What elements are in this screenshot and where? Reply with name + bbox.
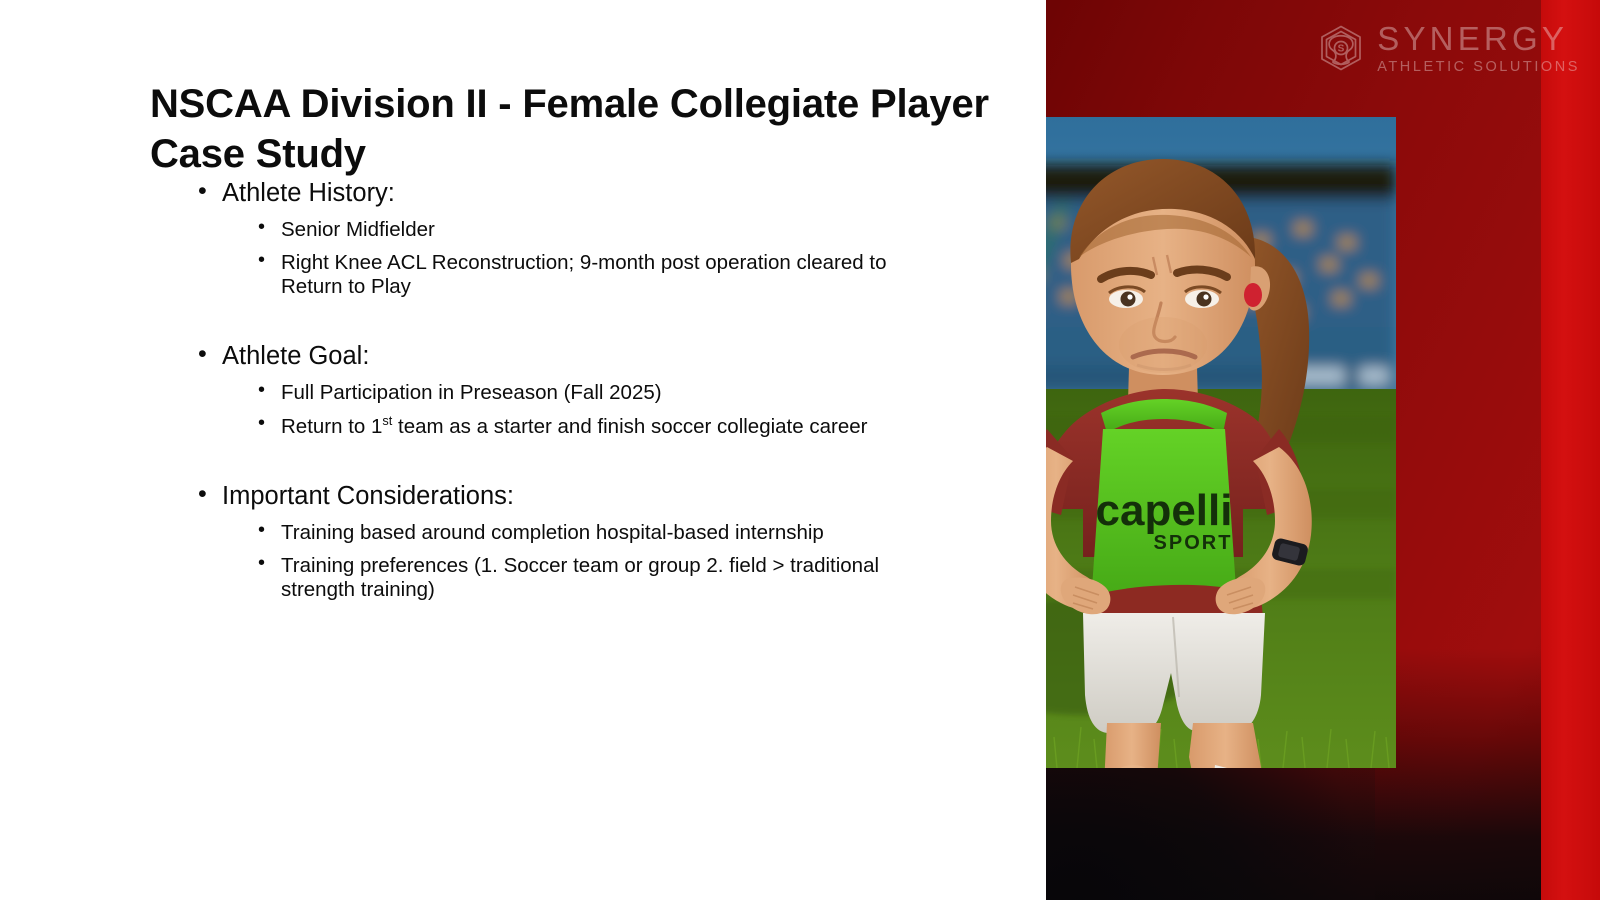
logo-wordmark: SYNERGY ATHLETIC SOLUTIONS	[1377, 22, 1580, 75]
synergy-logo: S SYNERGY ATHLETIC SOLUTIONS	[1316, 22, 1580, 75]
bullet-heading: Important Considerations:	[150, 481, 940, 512]
svg-text:SPORT: SPORT	[1154, 532, 1233, 554]
bullet-group-athlete-history: Athlete History: Senior Midfielder Right…	[150, 178, 940, 299]
hexagon-knot-s-icon: S	[1316, 23, 1366, 73]
bullet-sub-item: Senior Midfielder	[150, 218, 940, 242]
bullet-group-athlete-goal: Athlete Goal: Full Participation in Pres…	[150, 341, 940, 439]
logo-name: SYNERGY	[1377, 22, 1580, 55]
bullet-group-important-considerations: Important Considerations: Training based…	[150, 481, 940, 602]
bullet-sub-item: Right Knee ACL Reconstruction; 9-month p…	[150, 251, 940, 299]
bullet-sub-item-ordinal: Return to 1st team as a starter and fini…	[150, 414, 940, 439]
ordinal-prefix: Return to 1	[281, 415, 382, 438]
ordinal-suffix: st	[382, 413, 392, 428]
bullet-sub-item: Training preferences (1. Soccer team or …	[150, 554, 940, 602]
slide-title: NSCAA Division II - Female Collegiate Pl…	[150, 79, 1030, 180]
logo-tagline: ATHLETIC SOLUTIONS	[1377, 60, 1580, 75]
svg-text:capelli: capelli	[1096, 486, 1233, 535]
bullet-sub-item: Full Participation in Preseason (Fall 20…	[150, 381, 940, 405]
bullet-heading: Athlete Goal:	[150, 341, 940, 372]
svg-text:S: S	[1338, 44, 1345, 55]
bullet-heading: Athlete History:	[150, 178, 940, 209]
bullet-sub-item: Training based around completion hospita…	[150, 521, 940, 545]
ordinal-rest: team as a starter and finish soccer coll…	[392, 415, 867, 438]
right-bright-red-strip	[1541, 0, 1600, 900]
presentation-slide: capelli SPORT	[0, 0, 1600, 900]
bullet-content: Athlete History: Senior Midfielder Right…	[150, 178, 940, 602]
